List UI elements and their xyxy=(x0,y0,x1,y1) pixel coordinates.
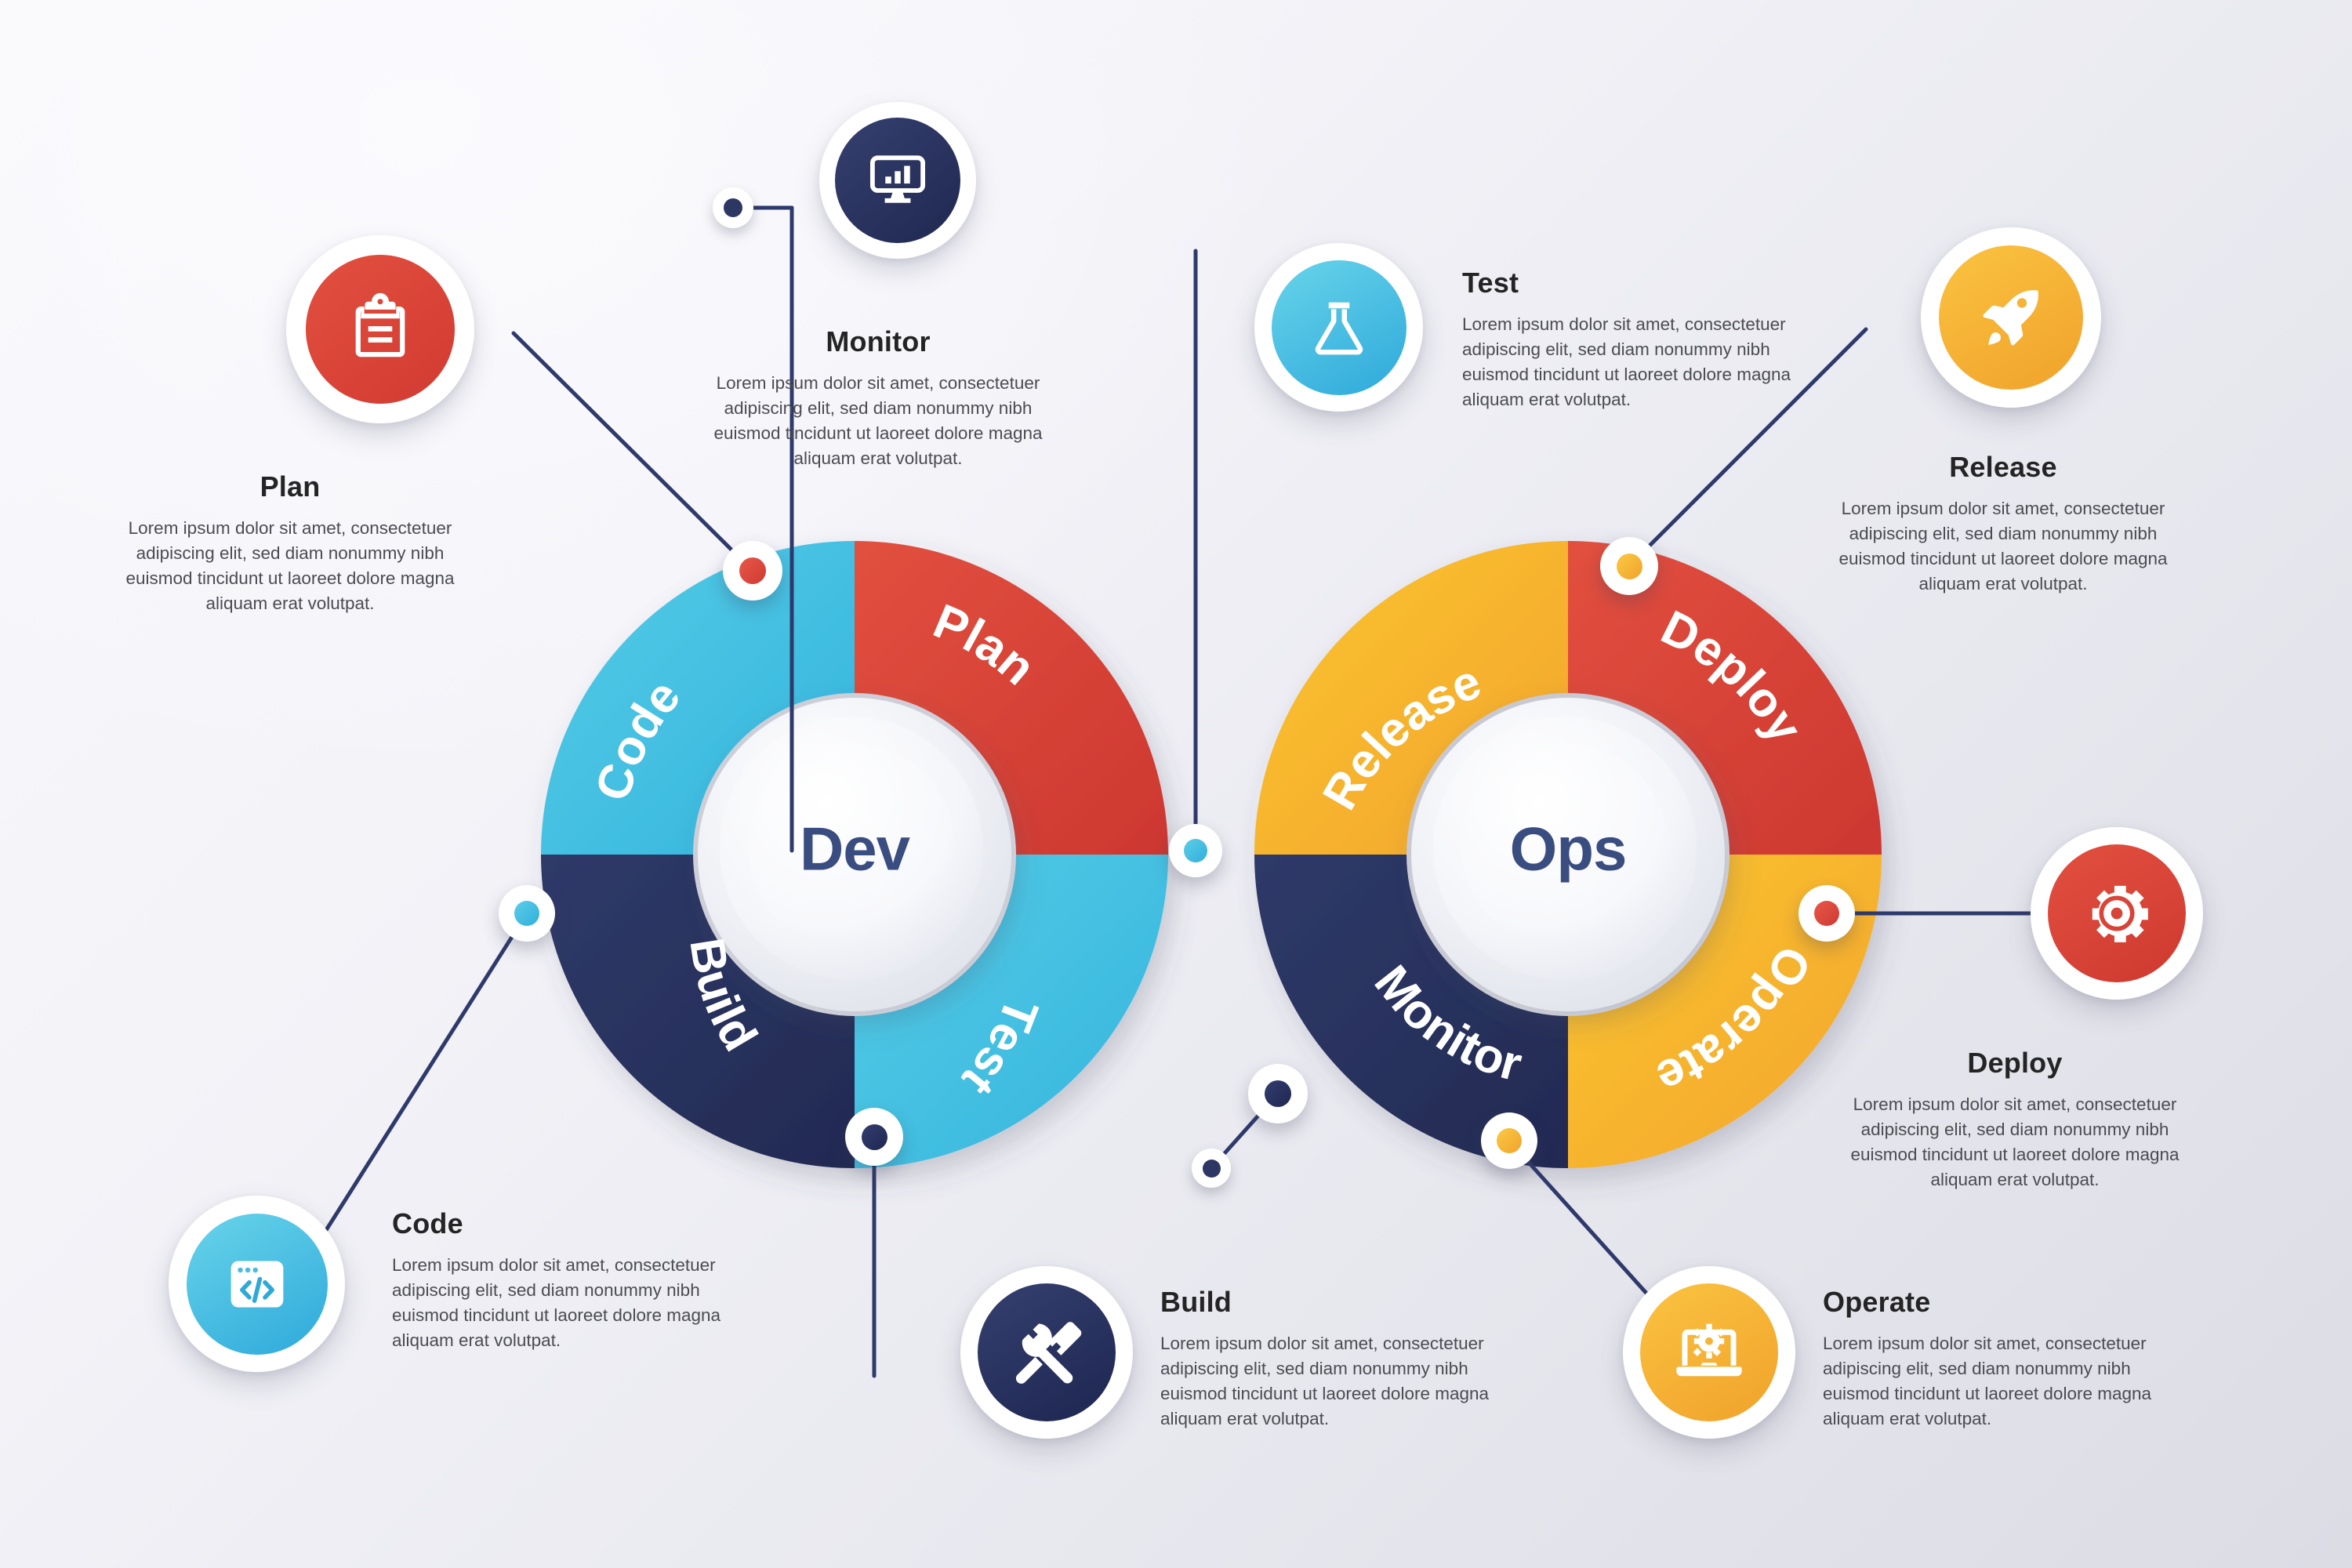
flask-icon xyxy=(1305,294,1373,361)
node-deploy-core xyxy=(1814,901,1839,926)
stage-title-code: Code xyxy=(392,1207,721,1240)
node-operate[interactable] xyxy=(1481,1112,1537,1169)
node-plan-core xyxy=(739,557,766,584)
stage-text-deploy: Deploy Lorem ipsum dolor sit amet, conse… xyxy=(1838,1047,2191,1192)
node-plan[interactable] xyxy=(723,541,782,601)
stage-text-release: Release Lorem ipsum dolor sit amet, cons… xyxy=(1831,451,2176,597)
minidot-monitor-dev[interactable] xyxy=(713,187,753,228)
operate-icon-bubble[interactable] xyxy=(1623,1266,1795,1439)
node-operate-core xyxy=(1497,1128,1522,1153)
node-build[interactable] xyxy=(845,1108,903,1166)
node-code[interactable] xyxy=(499,885,555,942)
stage-title-test: Test xyxy=(1462,267,1799,299)
stage-desc-deploy: Lorem ipsum dolor sit amet, consectetuer… xyxy=(1838,1092,2191,1192)
stage-title-release: Release xyxy=(1831,451,2176,484)
node-release-core xyxy=(1617,554,1642,579)
node-test[interactable] xyxy=(1169,824,1222,877)
laptop-gear-icon xyxy=(1671,1314,1748,1391)
monitor-chart-icon xyxy=(866,148,930,212)
release-icon-bubble[interactable] xyxy=(1921,227,2101,408)
wrench-screwdriver-icon xyxy=(1007,1313,1086,1392)
node-build-core xyxy=(862,1124,887,1150)
stage-text-code: Code Lorem ipsum dolor sit amet, consect… xyxy=(392,1207,721,1353)
test-icon-bubble[interactable] xyxy=(1254,243,1423,412)
stage-text-monitor-dev: Monitor Lorem ipsum dolor sit amet, cons… xyxy=(706,325,1051,471)
node-deploy[interactable] xyxy=(1798,885,1855,942)
node-code-core xyxy=(514,901,539,926)
plan-icon-bubble[interactable] xyxy=(286,235,474,423)
code-icon-bubble[interactable] xyxy=(169,1196,345,1372)
build-icon-bubble[interactable] xyxy=(960,1266,1133,1439)
minidot-monitor-ops-core xyxy=(1203,1160,1221,1178)
monitor-dev-icon-bubble[interactable] xyxy=(819,102,976,259)
node-release[interactable] xyxy=(1600,537,1658,595)
clipboard-icon xyxy=(343,292,417,366)
stage-text-build: Build Lorem ipsum dolor sit amet, consec… xyxy=(1160,1286,1490,1432)
rocket-icon xyxy=(1973,280,2049,355)
stage-desc-monitor-dev: Lorem ipsum dolor sit amet, consectetuer… xyxy=(706,371,1051,471)
ops-hub xyxy=(1411,698,1725,1011)
code-window-icon xyxy=(221,1248,293,1320)
stage-desc-test: Lorem ipsum dolor sit amet, consectetuer… xyxy=(1462,312,1799,412)
gear-icon xyxy=(2076,873,2158,954)
stage-text-plan: Plan Lorem ipsum dolor sit amet, consect… xyxy=(118,470,463,616)
stage-desc-release: Lorem ipsum dolor sit amet, consectetuer… xyxy=(1831,496,2176,597)
stage-text-test: Test Lorem ipsum dolor sit amet, consect… xyxy=(1462,267,1799,412)
minidot-monitor-dev-core xyxy=(724,198,742,217)
node-monitor-ops-core xyxy=(1265,1080,1291,1107)
stage-text-operate: Operate Lorem ipsum dolor sit amet, cons… xyxy=(1823,1286,2152,1432)
infographic-stage: Plan Test Build Code Release Deploy Oper… xyxy=(0,0,2352,1568)
stage-desc-code: Lorem ipsum dolor sit amet, consectetuer… xyxy=(392,1253,721,1353)
node-test-core xyxy=(1184,839,1207,862)
stage-title-build: Build xyxy=(1160,1286,1490,1319)
stage-title-deploy: Deploy xyxy=(1838,1047,2191,1080)
stage-title-plan: Plan xyxy=(118,470,463,503)
stage-desc-build: Lorem ipsum dolor sit amet, consectetuer… xyxy=(1160,1331,1490,1432)
stage-desc-plan: Lorem ipsum dolor sit amet, consectetuer… xyxy=(118,516,463,616)
deploy-icon-bubble[interactable] xyxy=(2031,827,2203,1000)
dev-hub xyxy=(698,698,1011,1011)
stage-title-monitor-dev: Monitor xyxy=(706,325,1051,358)
stage-title-operate: Operate xyxy=(1823,1286,2152,1319)
minidot-monitor-ops[interactable] xyxy=(1192,1149,1231,1188)
node-monitor-ops[interactable] xyxy=(1248,1064,1308,1123)
stage-desc-operate: Lorem ipsum dolor sit amet, consectetuer… xyxy=(1823,1331,2152,1432)
